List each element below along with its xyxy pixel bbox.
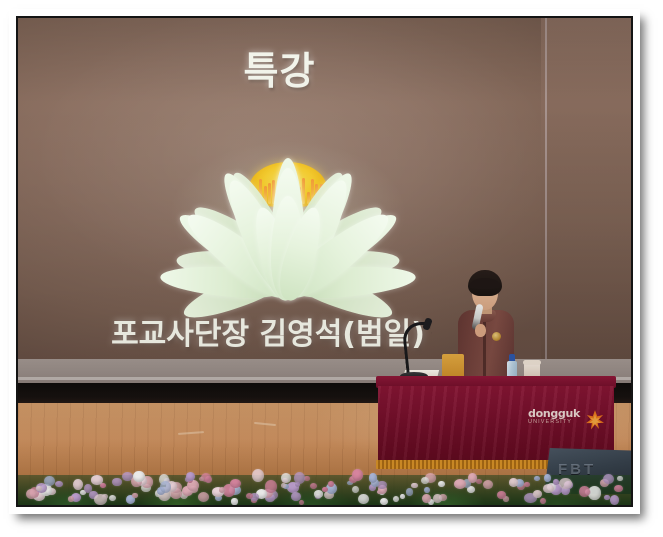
flower-bloom — [26, 489, 36, 500]
screen-seam-line — [545, 18, 547, 359]
flower-bloom — [617, 476, 623, 482]
flower-bloom — [73, 479, 83, 490]
lotus-stamen — [268, 183, 271, 204]
flower-bloom — [540, 498, 546, 504]
flower-bloom — [294, 472, 305, 484]
presenter-badge — [492, 332, 501, 341]
slide-title: 특강 — [18, 40, 541, 95]
flower-bloom — [281, 473, 291, 483]
flower-bloom — [299, 500, 304, 505]
flower-bloom — [433, 494, 442, 502]
flower-bloom — [68, 496, 74, 501]
flower-bloom — [358, 494, 369, 505]
flower-bloom — [133, 471, 144, 482]
lotus-flower-image — [138, 114, 438, 304]
flower-bloom — [44, 476, 54, 486]
flower-bloom — [553, 479, 559, 485]
slide-subtitle: 포교사단장 김영석(범일) — [18, 309, 518, 353]
flower-bloom — [369, 473, 378, 482]
flower-bloom — [55, 481, 63, 487]
flower-bloom — [314, 490, 323, 497]
flower-bloom — [328, 481, 334, 486]
flower-bloom — [422, 494, 431, 503]
flower-bloom — [186, 472, 195, 481]
flower-bloom — [231, 498, 237, 504]
flower-bloom — [246, 493, 253, 499]
flower-bloom — [406, 488, 413, 495]
photo-frame: 특강 포교사단장 김영석(범일) — [9, 9, 640, 514]
flower-bloom — [304, 476, 309, 481]
presenter-hand — [475, 324, 486, 337]
flower-bloom — [91, 475, 102, 485]
flower-bloom — [603, 474, 614, 484]
flower-bloom — [109, 495, 116, 501]
chair — [442, 354, 464, 378]
flower-bloom — [421, 477, 429, 484]
paper-cup-lid — [523, 360, 541, 365]
flower-bloom — [230, 479, 241, 489]
lotus-stamen — [302, 178, 305, 204]
floral-arrangement — [18, 458, 631, 505]
flower-bloom — [497, 491, 506, 499]
flower-bloom — [454, 479, 466, 489]
microphone-neck — [401, 322, 436, 375]
water-bottle-cap — [509, 354, 515, 361]
dongguk-flame-icon — [586, 410, 604, 430]
auditorium-photo: 특강 포교사단장 김영석(범일) — [18, 18, 631, 505]
flower-bloom — [468, 473, 477, 482]
flower-bloom — [102, 494, 107, 499]
flower-bloom — [219, 487, 225, 493]
projection-screen-right-panel — [541, 18, 631, 359]
flower-bloom — [610, 495, 619, 505]
dongguk-university-logo: dongguk UNIVERSITY — [528, 408, 604, 434]
screenshot-root: 특강 포교사단장 김영석(범일) — [0, 0, 663, 537]
flower-bloom — [160, 481, 171, 493]
flower-bloom — [199, 477, 204, 481]
flower-bloom — [112, 478, 121, 486]
flower-bloom — [614, 485, 623, 492]
flower-bloom — [579, 486, 589, 497]
flower-bloom — [411, 483, 417, 488]
flower-bloom — [543, 484, 554, 493]
flower-bloom — [291, 492, 301, 501]
microphone-head — [422, 317, 433, 331]
flower-bloom — [198, 492, 209, 502]
flower-bloom — [132, 493, 138, 498]
flower-bloom — [400, 494, 405, 500]
presenter-hair-fringe — [469, 278, 501, 289]
flower-bloom — [424, 487, 430, 493]
gooseneck-microphone — [394, 318, 436, 380]
flower-bloom — [559, 478, 572, 489]
